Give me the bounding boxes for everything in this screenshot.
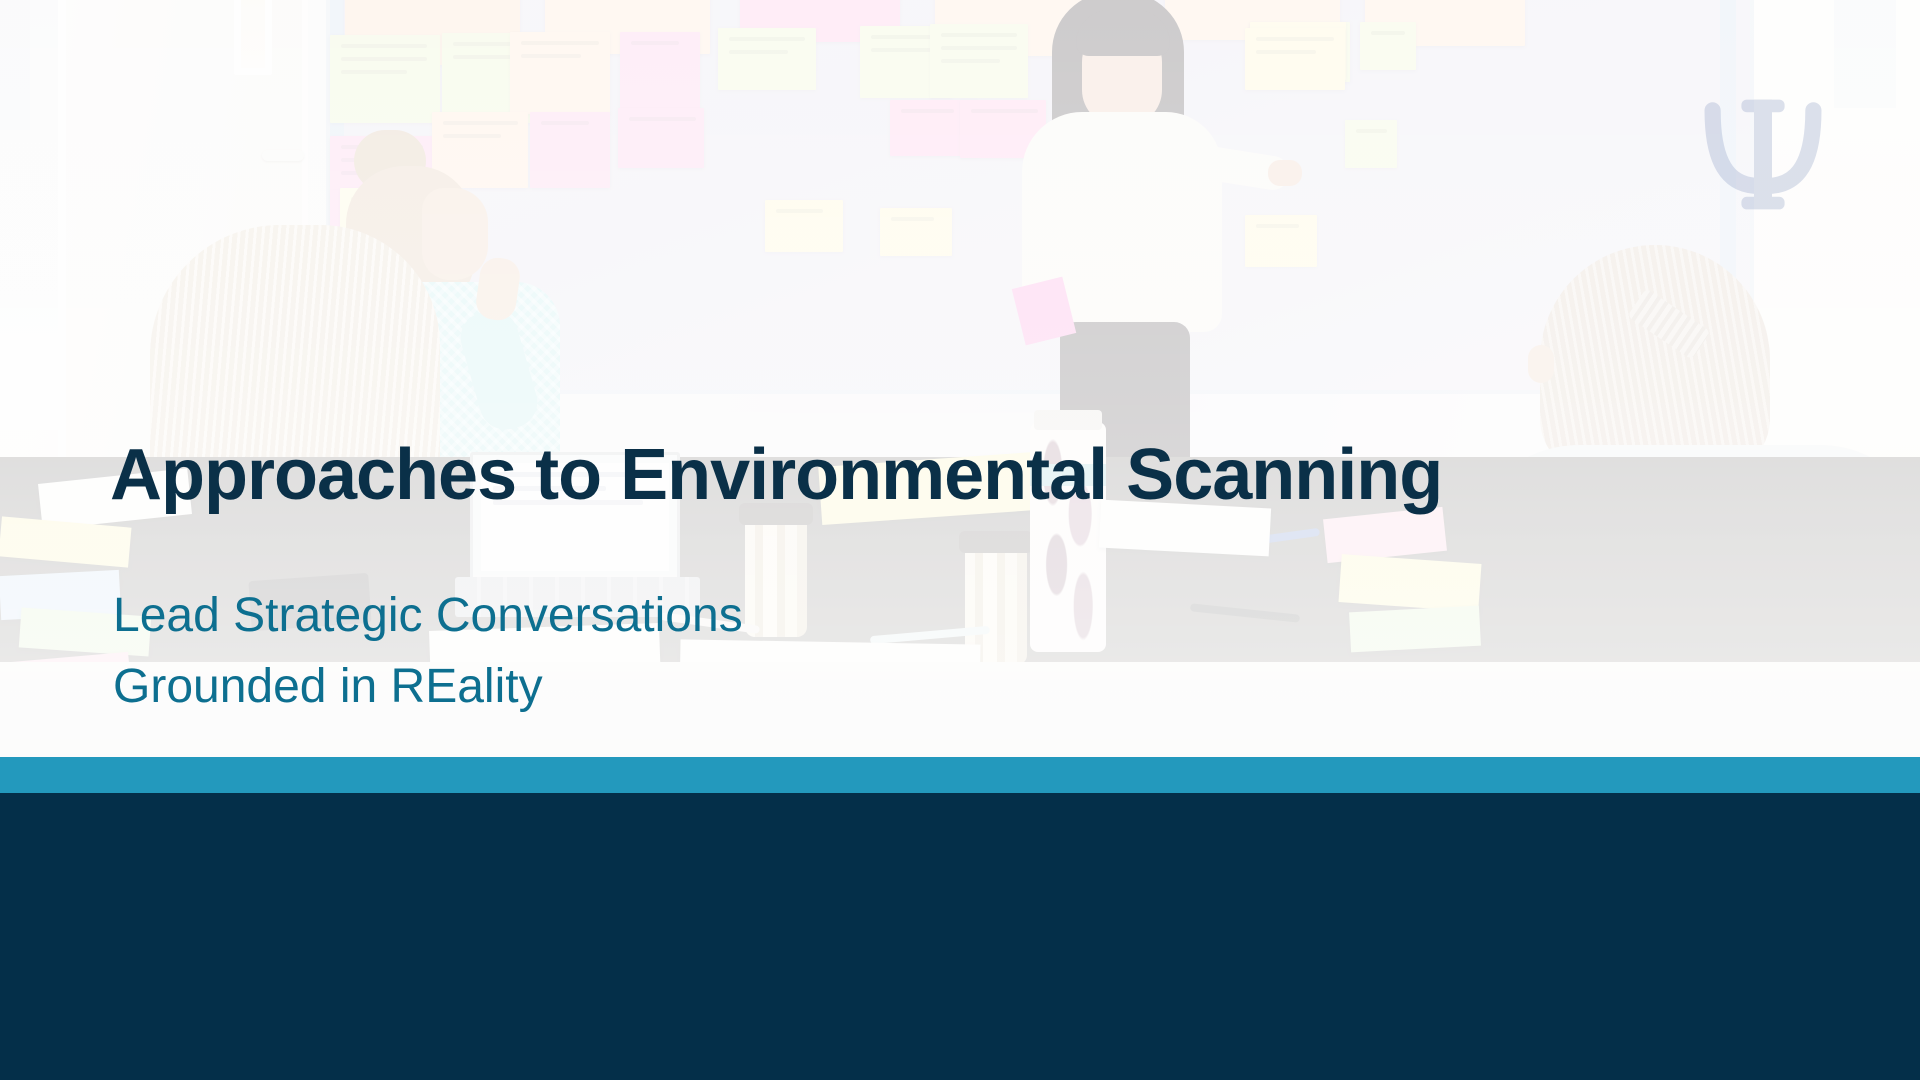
sticky-note [1360,22,1416,70]
sticky-note [765,200,843,252]
participant-b-hair [1540,245,1770,475]
sticky-note-writing [901,109,954,113]
sticky-note-writing [729,37,805,41]
sticky-note-writing [341,57,427,61]
sticky-note-writing [541,121,589,125]
accent-bar [0,757,1920,793]
sticky-note-writing [443,121,518,125]
sticky-note-writing [631,41,679,45]
sticky-note [618,108,704,168]
page-subtitle: Lead Strategic Conversations Grounded in… [113,580,743,722]
facilitator-fringe [1076,10,1170,56]
participant-face [422,188,488,280]
sticky-note [330,35,440,123]
coffee-cup-lid [959,531,1033,553]
paper-yellow-right [1338,554,1481,612]
subtitle-line-1: Lead Strategic Conversations [113,580,743,651]
sticky-note [510,32,610,114]
coffee-cup-1 [745,519,807,637]
facilitator-hand [1268,160,1302,186]
subtitle-line-2: Grounded in REality [113,651,743,722]
slide-root: Approaches to Environmental Scanning Lea… [0,0,1920,1080]
sticky-note-writing [629,117,696,121]
sticky-note-writing [729,50,788,54]
sticky-note [880,208,952,256]
left-wall-panel [0,0,30,130]
sticky-note-writing [776,209,823,213]
sticky-note-writing [1356,129,1387,133]
footer-bar [0,793,1920,1080]
sticky-note-writing [453,55,514,59]
coffee-cup-body [745,519,807,637]
sticky-note [718,28,816,90]
sticky-note-writing [891,217,934,221]
sticky-note [1345,120,1397,168]
door-window [234,0,272,75]
sticky-note-writing [1371,31,1405,35]
sticky-note-writing [341,70,407,74]
participant-b-ear [1528,345,1554,383]
standing-facilitator [1000,0,1300,470]
paper-green-right [1349,606,1481,653]
psi-logo [1668,60,1858,240]
sticky-note-writing [521,41,599,45]
sticky-note-writing [341,44,427,48]
sticky-note-writing [941,59,1000,63]
bottle-cap [1034,410,1102,430]
door-handle [262,150,304,161]
sticky-note [620,32,700,112]
page-title: Approaches to Environmental Scanning [110,434,1442,516]
sticky-note-writing [521,54,581,58]
